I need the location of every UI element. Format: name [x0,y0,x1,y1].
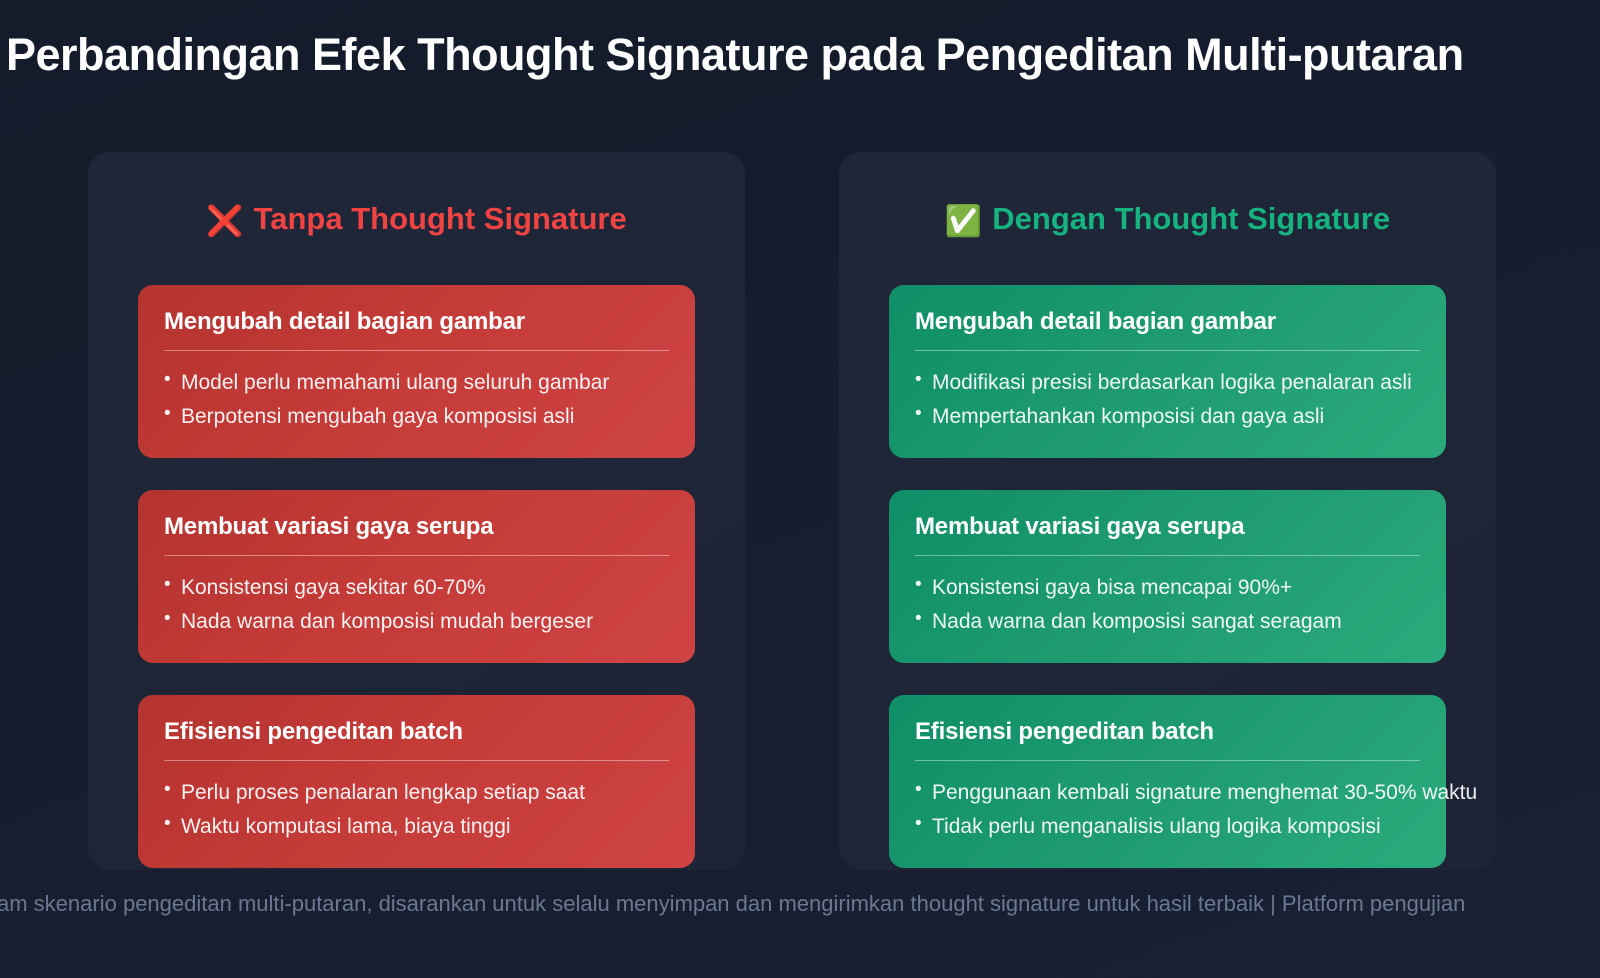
card-divider [915,760,1420,761]
card-title: Mengubah detail bagian gambar [164,307,669,337]
panel-header-label: Dengan Thought Signature [992,201,1390,236]
list-item: Modifikasi presisi berdasarkan logika pe… [915,366,1420,400]
list-item: Nada warna dan komposisi mudah bergeser [164,605,669,639]
list-item: Waktu komputasi lama, biaya tinggi [164,810,669,844]
card-divider [164,555,669,556]
panel-without-thought-signature: ❌Tanpa Thought Signature Mengubah detail… [88,152,745,870]
list-item: Nada warna dan komposisi sangat seragam [915,605,1420,639]
card-title: Efisiensi pengeditan batch [164,717,669,747]
list-item: Konsistensi gaya bisa mencapai 90%+ [915,571,1420,605]
card-list-without: Mengubah detail bagian gambar Model perl… [88,285,745,868]
card-bullets: Penggunaan kembali signature menghemat 3… [915,776,1420,844]
list-item: Penggunaan kembali signature menghemat 3… [915,776,1420,810]
card-bullets: Konsistensi gaya bisa mencapai 90%+ Nada… [915,571,1420,639]
card-edit-detail-positive[interactable]: Mengubah detail bagian gambar Modifikasi… [889,285,1446,458]
list-item: Konsistensi gaya sekitar 60-70% [164,571,669,605]
card-divider [164,760,669,761]
card-bullets: Perlu proses penalaran lengkap setiap sa… [164,776,669,844]
check-mark-icon: ✅ [945,204,982,240]
list-item: Tidak perlu menganalisis ulang logika ko… [915,810,1420,844]
card-divider [915,555,1420,556]
card-edit-detail-negative[interactable]: Mengubah detail bagian gambar Model perl… [138,285,695,458]
panel-header-with: ✅Dengan Thought Signature [839,186,1496,240]
card-title: Mengubah detail bagian gambar [915,307,1420,337]
panel-with-thought-signature: ✅Dengan Thought Signature Mengubah detai… [839,152,1496,870]
card-batch-efficiency-negative[interactable]: Efisiensi pengeditan batch Perlu proses … [138,695,695,868]
card-bullets: Konsistensi gaya sekitar 60-70% Nada war… [164,571,669,639]
card-batch-efficiency-positive[interactable]: Efisiensi pengeditan batch Penggunaan ke… [889,695,1446,868]
list-item: Perlu proses penalaran lengkap setiap sa… [164,776,669,810]
card-list-with: Mengubah detail bagian gambar Modifikasi… [839,285,1496,868]
card-title: Efisiensi pengeditan batch [915,717,1420,747]
card-style-variation-negative[interactable]: Membuat variasi gaya serupa Konsistensi … [138,490,695,663]
list-item: Berpotensi mengubah gaya komposisi asli [164,400,669,434]
card-title: Membuat variasi gaya serupa [915,512,1420,542]
card-style-variation-positive[interactable]: Membuat variasi gaya serupa Konsistensi … [889,490,1446,663]
list-item: Model perlu memahami ulang seluruh gamba… [164,366,669,400]
panel-header-label: Tanpa Thought Signature [254,201,627,236]
card-divider [164,350,669,351]
card-title: Membuat variasi gaya serupa [164,512,669,542]
card-bullets: Modifikasi presisi berdasarkan logika pe… [915,366,1420,434]
panel-header-without: ❌Tanpa Thought Signature [88,186,745,240]
list-item: Mempertahankan komposisi dan gaya asli [915,400,1420,434]
footer-note: Dalam skenario pengeditan multi-putaran,… [0,890,1600,919]
cross-mark-icon: ❌ [206,204,243,240]
card-divider [915,350,1420,351]
card-bullets: Model perlu memahami ulang seluruh gamba… [164,366,669,434]
comparison-columns: ❌Tanpa Thought Signature Mengubah detail… [88,152,1512,870]
page-title: Perbandingan Efek Thought Signature pada… [6,28,1600,82]
